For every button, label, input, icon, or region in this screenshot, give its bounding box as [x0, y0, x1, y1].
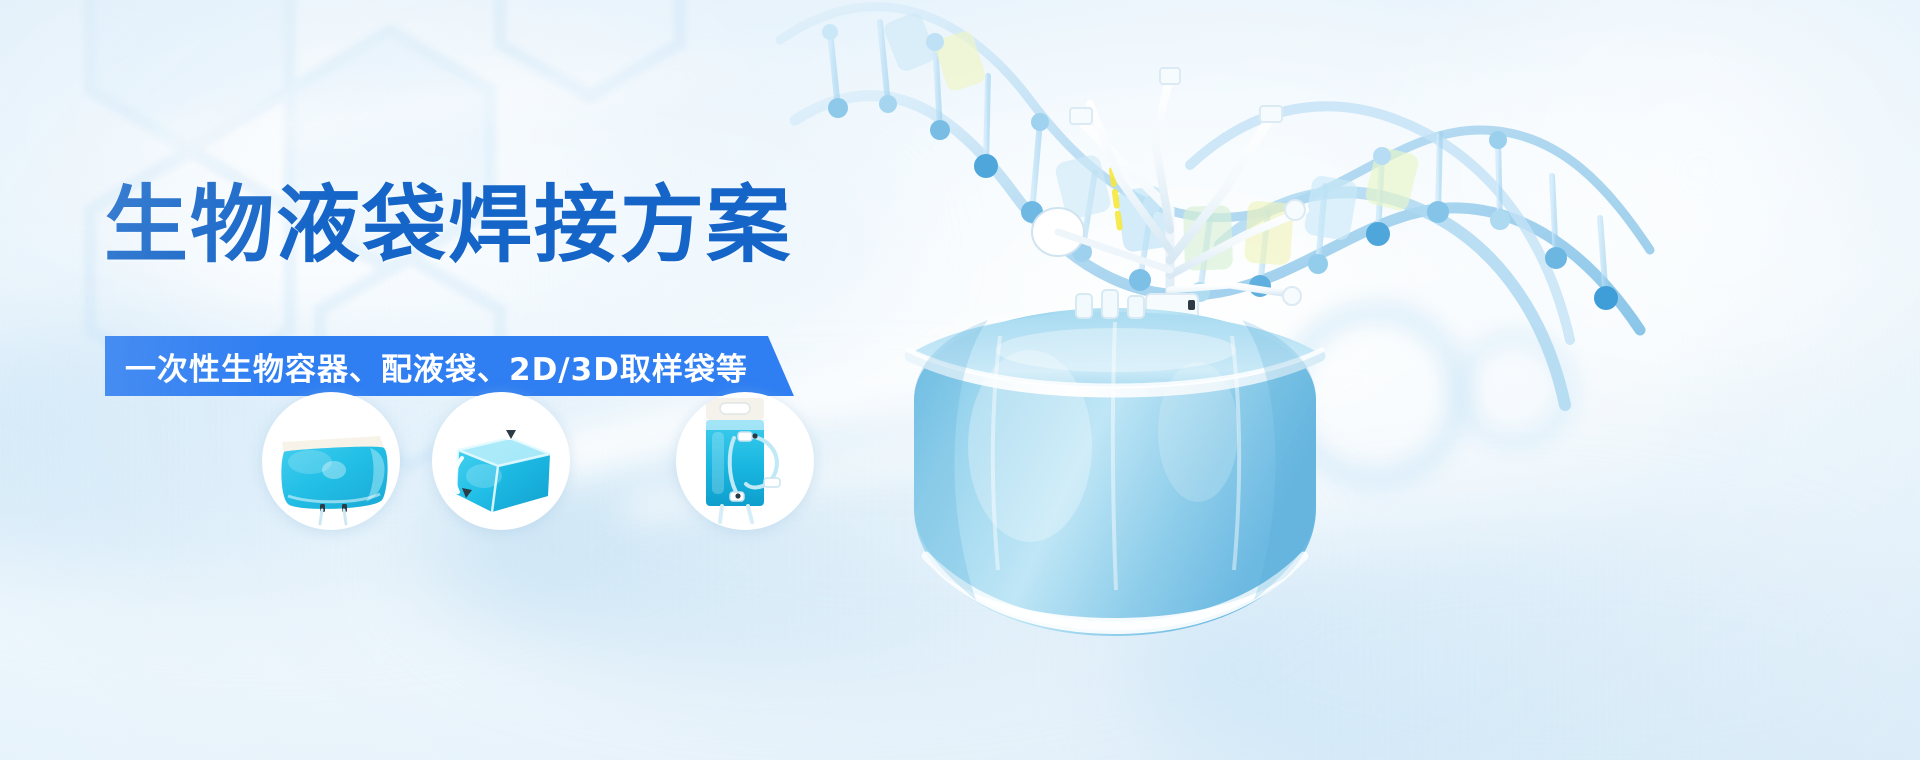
product-thumb-2d-bag[interactable]	[262, 392, 400, 530]
bioprocess-bag-hero-image	[880, 250, 1350, 650]
product-thumb-mixing-bag[interactable]	[676, 392, 814, 530]
subtitle-banner: 一次性生物容器、配液袋、2D/3D取样袋等	[105, 336, 794, 396]
cube-bag-icon	[432, 392, 570, 530]
hanging-bag-icon	[676, 392, 814, 530]
page-title: 生物液袋焊接方案	[104, 178, 792, 272]
background-light-streak-3	[151, 37, 850, 156]
promotional-banner: 生物液袋焊接方案 一次性生物容器、配液袋、2D/3D取样袋等	[0, 0, 1920, 760]
pillow-bag-icon	[262, 392, 400, 530]
product-thumb-3d-sampling-bag[interactable]	[432, 392, 570, 530]
subtitle-text: 一次性生物容器、配液袋、2D/3D取样袋等	[125, 344, 748, 389]
